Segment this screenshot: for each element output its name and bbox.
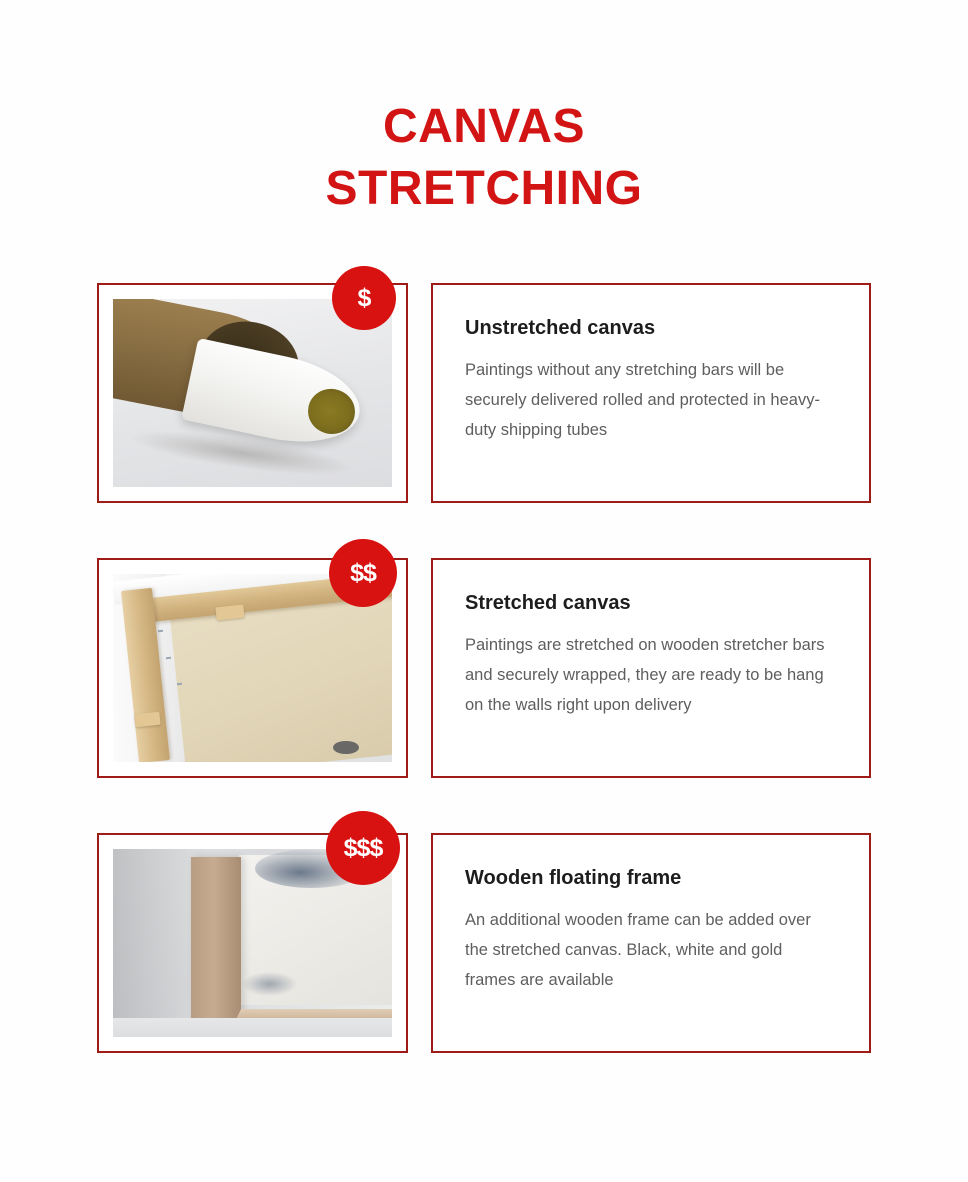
canvas-stretching-infographic: CANVAS STRETCHING $ Un [0,0,968,1182]
option-row-stretched-canvas: $$ Stretched canvas Paintings are stretc… [0,558,968,778]
staple [166,656,171,659]
option-description: An additional wooden frame can be added … [465,905,837,995]
option-row-unstretched-canvas: $ Unstretched canvas Paintings without a… [0,283,968,503]
option-description: Paintings without any stretching bars wi… [465,355,837,445]
text-card-unstretched-canvas: Unstretched canvas Paintings without any… [431,283,871,503]
photo-floor [113,1018,392,1037]
option-heading: Wooden floating frame [465,865,837,891]
option-heading: Unstretched canvas [465,315,837,341]
price-badge-two-dollar: $$ [329,539,397,607]
price-badge-three-dollar: $$$ [326,811,400,885]
text-card-stretched-canvas: Stretched canvas Paintings are stretched… [431,558,871,778]
artwork-ink-wash-bottom [242,972,297,996]
price-badge-one-dollar: $ [332,266,396,330]
options-list: $ Unstretched canvas Paintings without a… [0,283,968,1108]
page-title-line-1: CANVAS [0,96,968,158]
floating-frame-side-rail [191,857,241,1028]
text-card-wooden-floating-frame: Wooden floating frame An additional wood… [431,833,871,1053]
option-description: Paintings are stretched on wooden stretc… [465,630,837,720]
option-row-wooden-floating-frame: $$$ Wooden floating frame An additional … [0,833,968,1053]
page-title-line-2: STRETCHING [0,158,968,220]
option-heading: Stretched canvas [465,590,837,616]
page-title: CANVAS STRETCHING [0,96,968,220]
